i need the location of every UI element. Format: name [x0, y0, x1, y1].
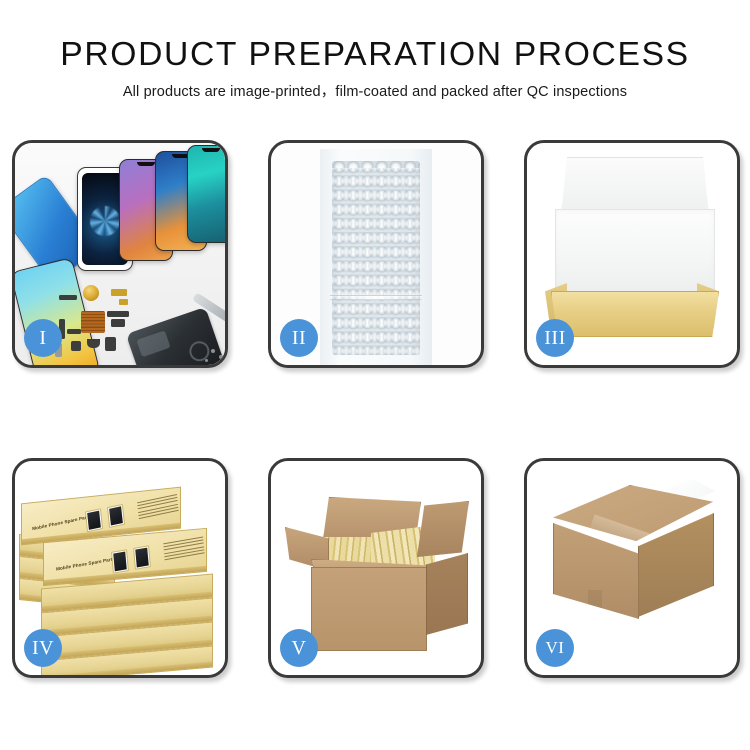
camera-part [105, 337, 116, 351]
process-step-panel-2[interactable]: II [268, 140, 484, 368]
step-badge-3: III [536, 319, 574, 357]
process-step-grid: I II [12, 140, 740, 678]
carton-right-flap [417, 501, 469, 557]
gold-coil-part [83, 285, 99, 301]
mailer-box-lid [561, 157, 709, 215]
process-step-panel-4[interactable]: Mobile Phone Spare Parts Mobile Phone Sp… [12, 458, 228, 678]
notch [137, 162, 155, 166]
copper-mesh-part [81, 311, 105, 333]
box-screen-image [133, 545, 151, 570]
bubble-wrap-texture-overlay [332, 168, 420, 355]
header: PRODUCT PREPARATION PROCESS All products… [0, 34, 750, 101]
flex-connector-part [107, 311, 129, 317]
speaker-part [87, 339, 100, 348]
carton-side-face [426, 553, 468, 635]
bubble-wrap-pouch [320, 149, 432, 365]
flex-cable-part [111, 289, 127, 296]
box-screen-image [85, 508, 103, 532]
retail-box-label: Mobile Phone Spare Parts [56, 556, 115, 571]
screw [211, 349, 215, 353]
step-badge-6: VI [536, 629, 574, 667]
retail-box-label: Mobile Phone Spare Parts [32, 514, 91, 531]
mailer-box-front [551, 291, 719, 337]
process-step-panel-5[interactable]: V [268, 458, 484, 678]
phone-screen-teal [187, 145, 225, 243]
notch [202, 148, 220, 152]
pouch-seal [330, 295, 422, 300]
process-step-panel-3[interactable]: III [524, 140, 740, 368]
step-badge-4: IV [24, 629, 62, 667]
flex-cable-part [119, 299, 128, 305]
screw [205, 359, 208, 362]
box-screen-image [111, 549, 129, 574]
small-part [67, 329, 81, 334]
foam-padding [555, 209, 715, 297]
step-badge-1: I [24, 319, 62, 357]
process-step-panel-6[interactable]: VI [524, 458, 740, 678]
carton-front-face [311, 567, 427, 651]
page-subtitle: All products are image-printed，film-coat… [0, 83, 750, 101]
step-badge-5: V [280, 629, 318, 667]
small-part [59, 295, 77, 300]
page-title: PRODUCT PREPARATION PROCESS [0, 34, 750, 74]
process-step-panel-1[interactable]: I [12, 140, 228, 368]
flex-connector-part [111, 319, 125, 327]
small-part [71, 341, 81, 351]
screw [219, 355, 223, 359]
box-spec-list [163, 536, 205, 562]
step-badge-2: II [280, 319, 318, 357]
product-preparation-infographic: PRODUCT PREPARATION PROCESS All products… [0, 0, 750, 750]
box-screen-image [107, 504, 125, 528]
box-spec-list [137, 494, 179, 521]
